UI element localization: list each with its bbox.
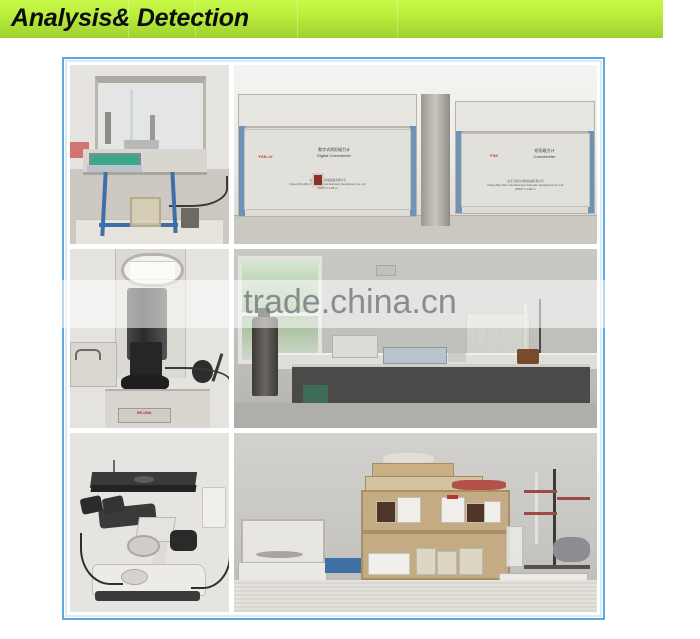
photo-gallery-frame: YSK-IV 数字式矫形磁力计 Digital Coercimeter 北京万源… [62, 57, 605, 620]
hardness-tester-photo[interactable]: HR-150A [70, 249, 229, 428]
gallery-row: HR-150A [70, 249, 597, 428]
unit-b-model-label: YSK [490, 153, 499, 158]
coercimeter-unit-b: YSK 矫形磁力计 Coercimeter 北京万源九州科技发展有限公司 Cha… [455, 101, 595, 214]
photo-gallery-grid: YSK-IV 数字式矫形磁力计 Digital Coercimeter 北京万源… [70, 65, 597, 612]
section-header-banner: Analysis& Detection [0, 0, 663, 38]
unit-a-model-label: YSK-IV [258, 154, 273, 159]
page-title: Analysis& Detection [11, 4, 249, 33]
unit-b-maker-extra: WWW.YY-LAB.cn [462, 188, 590, 192]
analytical-balance-photo[interactable] [70, 65, 229, 244]
hardness-tester-plate-label: HR-150A [119, 411, 170, 415]
gallery-row: YSK-IV 数字式矫形磁力计 Digital Coercimeter 北京万源… [70, 65, 597, 244]
coercimeter-unit-a: YSK-IV 数字式矫形磁力计 Digital Coercimeter 北京万源… [238, 94, 418, 218]
power-switch [312, 173, 325, 188]
unit-a-maker-extra: WWW.YY-LAB.cn [245, 187, 410, 191]
banner-seam [297, 0, 298, 38]
unit-b-label-en: Coercimeter [513, 154, 577, 160]
metallurgical-microscope-photo[interactable] [70, 433, 229, 612]
banner-seam [397, 0, 398, 38]
coercimeter-instruments-photo[interactable]: YSK-IV 数字式矫形磁力计 Digital Coercimeter 北京万源… [234, 65, 597, 244]
unit-a-label-en: Digital Coercimeter [291, 153, 377, 159]
laboratory-bench-photo[interactable] [234, 249, 597, 428]
chemistry-bench-photo[interactable] [234, 433, 597, 612]
gallery-row [70, 433, 597, 612]
